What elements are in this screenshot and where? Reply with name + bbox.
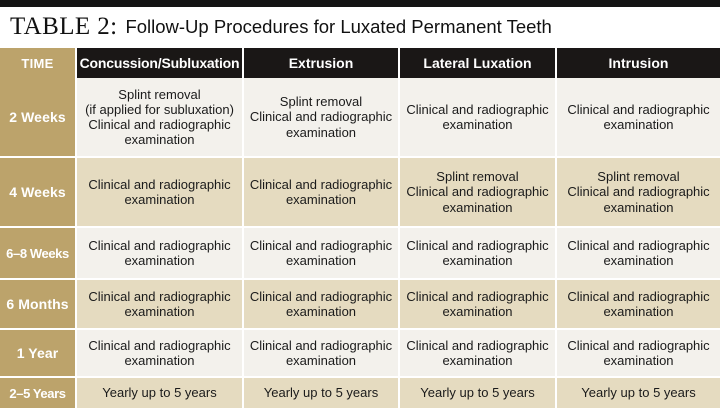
table-cell: Clinical and radiographicexamination: [244, 228, 400, 280]
row-header-time: 2 Weeks: [0, 78, 77, 158]
cell-line: examination: [250, 253, 392, 268]
cell-line: examination: [85, 132, 234, 147]
cell-line: Clinical and radiographic: [406, 102, 548, 117]
cell-line: examination: [406, 304, 548, 319]
row-header-time: 4 Weeks: [0, 158, 77, 228]
cell-line: Clinical and radiographic: [567, 289, 709, 304]
cell-line: Yearly up to 5 years: [581, 385, 695, 400]
cell-line: Yearly up to 5 years: [102, 385, 216, 400]
table-title: TABLE 2: Follow-Up Procedures for Luxate…: [0, 7, 720, 48]
cell-line: (if applied for subluxation): [85, 102, 234, 117]
cell-line: examination: [250, 125, 392, 140]
table-cell: Clinical and radiographicexamination: [557, 78, 720, 158]
table-number-label: TABLE 2:: [10, 14, 117, 39]
cell-line: examination: [406, 200, 548, 215]
column-header-time: TIME: [0, 48, 77, 78]
cell-line: Clinical and radiographic: [567, 102, 709, 117]
table-title-text: Follow-Up Procedures for Luxated Permane…: [125, 18, 551, 37]
column-header-extrusion: Extrusion: [244, 48, 400, 78]
cell-line: Clinical and radiographic: [250, 109, 392, 124]
cell-line: examination: [567, 253, 709, 268]
cell-line: Clinical and radiographic: [250, 238, 392, 253]
cell-line: examination: [567, 200, 709, 215]
table-header-row: TIME Concussion/Subluxation Extrusion La…: [0, 48, 720, 78]
table-row: 2 WeeksSplint removal(if applied for sub…: [0, 78, 720, 158]
cell-line: Clinical and radiographic: [567, 238, 709, 253]
cell-line: Clinical and radiographic: [406, 338, 548, 353]
cell-line: examination: [250, 353, 392, 368]
table-cell: Yearly up to 5 years: [244, 378, 400, 410]
table-cell: Clinical and radiographicexamination: [244, 330, 400, 378]
cell-line: Clinical and radiographic: [250, 338, 392, 353]
column-header-concussion-subluxation: Concussion/Subluxation: [77, 48, 244, 78]
cell-line: Clinical and radiographic: [406, 184, 548, 199]
cell-line: Clinical and radiographic: [85, 117, 234, 132]
cell-line: examination: [88, 192, 230, 207]
cell-line: examination: [567, 353, 709, 368]
cell-line: examination: [406, 253, 548, 268]
column-header-intrusion: Intrusion: [557, 48, 720, 78]
table-grid: TIME Concussion/Subluxation Extrusion La…: [0, 48, 720, 405]
cell-line: examination: [406, 353, 548, 368]
table-cell: Clinical and radiographicexamination: [557, 330, 720, 378]
cell-line: examination: [406, 117, 548, 132]
table-body: 2 WeeksSplint removal(if applied for sub…: [0, 78, 720, 410]
table-cell: Clinical and radiographicexamination: [400, 280, 557, 330]
table-cell: Yearly up to 5 years: [77, 378, 244, 410]
cell-line: Clinical and radiographic: [88, 238, 230, 253]
table-cell: Clinical and radiographicexamination: [77, 330, 244, 378]
cell-line: Splint removal: [567, 169, 709, 184]
cell-line: examination: [88, 353, 230, 368]
cell-line: Clinical and radiographic: [567, 184, 709, 199]
cell-line: Clinical and radiographic: [250, 289, 392, 304]
row-header-time: 1 Year: [0, 330, 77, 378]
table-cell: Clinical and radiographicexamination: [400, 228, 557, 280]
column-header-lateral-luxation: Lateral Luxation: [400, 48, 557, 78]
table-cell: Clinical and radiographicexamination: [400, 330, 557, 378]
table-cell: Splint removalClinical and radiographice…: [557, 158, 720, 228]
table-cell: Clinical and radiographicexamination: [244, 158, 400, 228]
table-cell: Clinical and radiographicexamination: [77, 158, 244, 228]
table-row: 6–8 WeeksClinical and radiographicexamin…: [0, 228, 720, 280]
table-cell: Clinical and radiographicexamination: [77, 280, 244, 330]
cell-line: Clinical and radiographic: [406, 289, 548, 304]
table-cell: Splint removal(if applied for subluxatio…: [77, 78, 244, 158]
cell-line: Clinical and radiographic: [567, 338, 709, 353]
cell-line: Splint removal: [85, 87, 234, 102]
cell-line: examination: [567, 304, 709, 319]
top-rule: [0, 0, 720, 7]
cell-line: examination: [250, 192, 392, 207]
cell-line: Clinical and radiographic: [88, 289, 230, 304]
row-header-time: 6–8 Weeks: [0, 228, 77, 280]
table-cell: Clinical and radiographicexamination: [77, 228, 244, 280]
table-cell: Clinical and radiographicexamination: [557, 228, 720, 280]
cell-line: Clinical and radiographic: [88, 338, 230, 353]
cell-line: Clinical and radiographic: [88, 177, 230, 192]
table-cell: Yearly up to 5 years: [557, 378, 720, 410]
cell-line: examination: [88, 304, 230, 319]
cell-line: Yearly up to 5 years: [420, 385, 534, 400]
table-row: 4 WeeksClinical and radiographicexaminat…: [0, 158, 720, 228]
cell-line: Yearly up to 5 years: [264, 385, 378, 400]
table-figure: TABLE 2: Follow-Up Procedures for Luxate…: [0, 0, 720, 405]
table-cell: Clinical and radiographicexamination: [244, 280, 400, 330]
row-header-time: 2–5 Years: [0, 378, 77, 410]
table-cell: Splint removalClinical and radiographice…: [244, 78, 400, 158]
cell-line: Splint removal: [250, 94, 392, 109]
table-cell: Clinical and radiographicexamination: [400, 78, 557, 158]
table-row: 1 YearClinical and radiographicexaminati…: [0, 330, 720, 378]
cell-line: Clinical and radiographic: [250, 177, 392, 192]
table-cell: Clinical and radiographicexamination: [557, 280, 720, 330]
cell-line: Splint removal: [406, 169, 548, 184]
cell-line: examination: [567, 117, 709, 132]
cell-line: examination: [250, 304, 392, 319]
table-cell: Splint removalClinical and radiographice…: [400, 158, 557, 228]
row-header-time: 6 Months: [0, 280, 77, 330]
cell-line: examination: [88, 253, 230, 268]
table-row: 6 MonthsClinical and radiographicexamina…: [0, 280, 720, 330]
cell-line: Clinical and radiographic: [406, 238, 548, 253]
table-cell: Yearly up to 5 years: [400, 378, 557, 410]
table-row: 2–5 YearsYearly up to 5 yearsYearly up t…: [0, 378, 720, 410]
